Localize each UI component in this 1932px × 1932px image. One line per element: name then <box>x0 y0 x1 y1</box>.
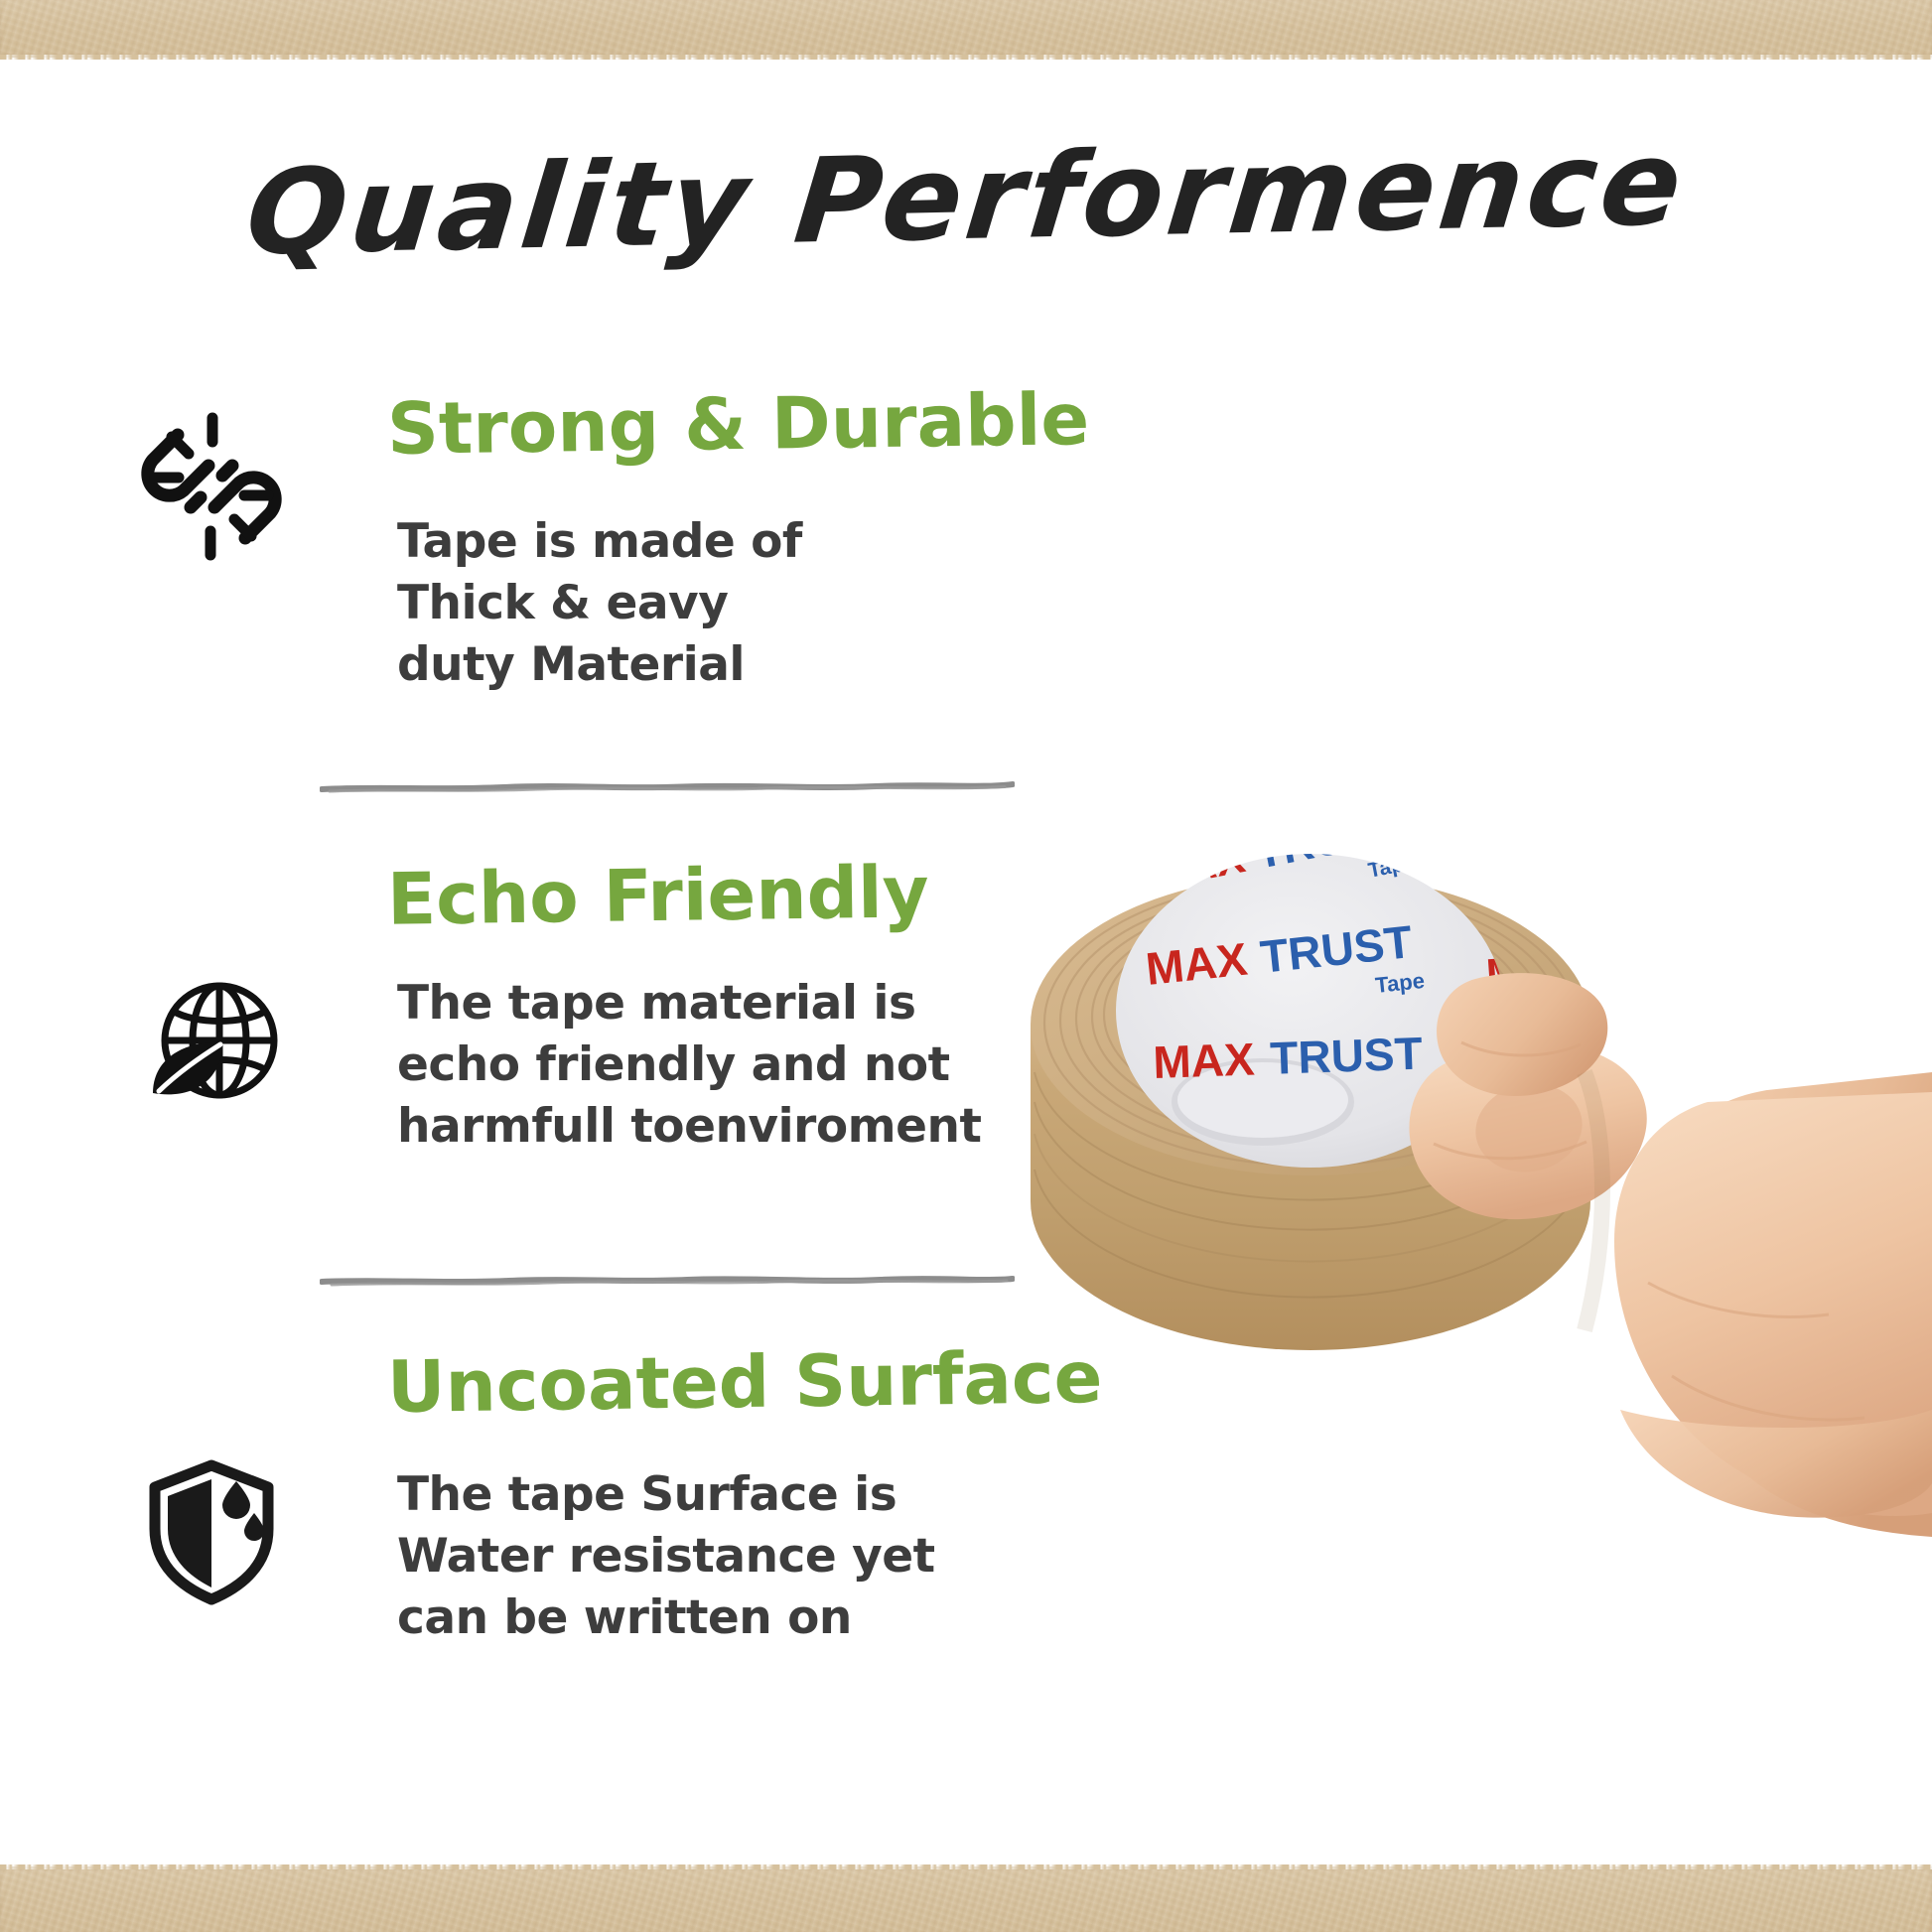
shield-water-drop-icon <box>137 1457 286 1606</box>
brand-tape-text-wrap: Tape <box>1035 845 1085 887</box>
infographic-canvas: Quality Performence <box>0 0 1932 1932</box>
kraft-torn-edge-bottom <box>0 1864 1932 1869</box>
section-divider <box>320 1274 1015 1288</box>
feature-body-text: The tape Surface is Water resistance yet… <box>397 1464 935 1649</box>
kraft-torn-edge-top <box>0 55 1932 60</box>
broken-chain-link-icon <box>137 412 286 561</box>
brand-trust-text-clip: TRUST <box>1584 823 1735 894</box>
feature-heading: Strong & Durable <box>386 377 1089 471</box>
feature-body-text: The tape material is echo friendly and n… <box>397 973 981 1158</box>
brand-max-text-clip: MAX <box>1473 848 1577 911</box>
globe-leaf-icon <box>137 973 286 1122</box>
kraft-paper-band-top <box>0 0 1932 58</box>
feature-body-text: Tape is made of Thick & eavy duty Materi… <box>397 511 802 696</box>
brand-trust-text-wrap: TRUST <box>1013 803 1068 913</box>
product-photo-hand-holding-tape-roll: MAX TRUST Tape TRUST Tape MAX TRUST Tape <box>1013 774 1932 1668</box>
page-title: Quality Performence <box>0 109 1932 287</box>
kraft-paper-band-bottom <box>0 1866 1932 1932</box>
feature-heading: Uncoated Surface <box>386 1335 1102 1429</box>
brand-trust-text: TRUST <box>1269 1028 1423 1084</box>
section-divider <box>320 780 1015 794</box>
brand-max-text: MAX <box>1144 933 1250 995</box>
feature-heading: Echo Friendly <box>386 850 929 941</box>
brand-max-text: MAX <box>1153 1033 1256 1088</box>
brand-tape-text: Tape <box>1374 968 1426 998</box>
